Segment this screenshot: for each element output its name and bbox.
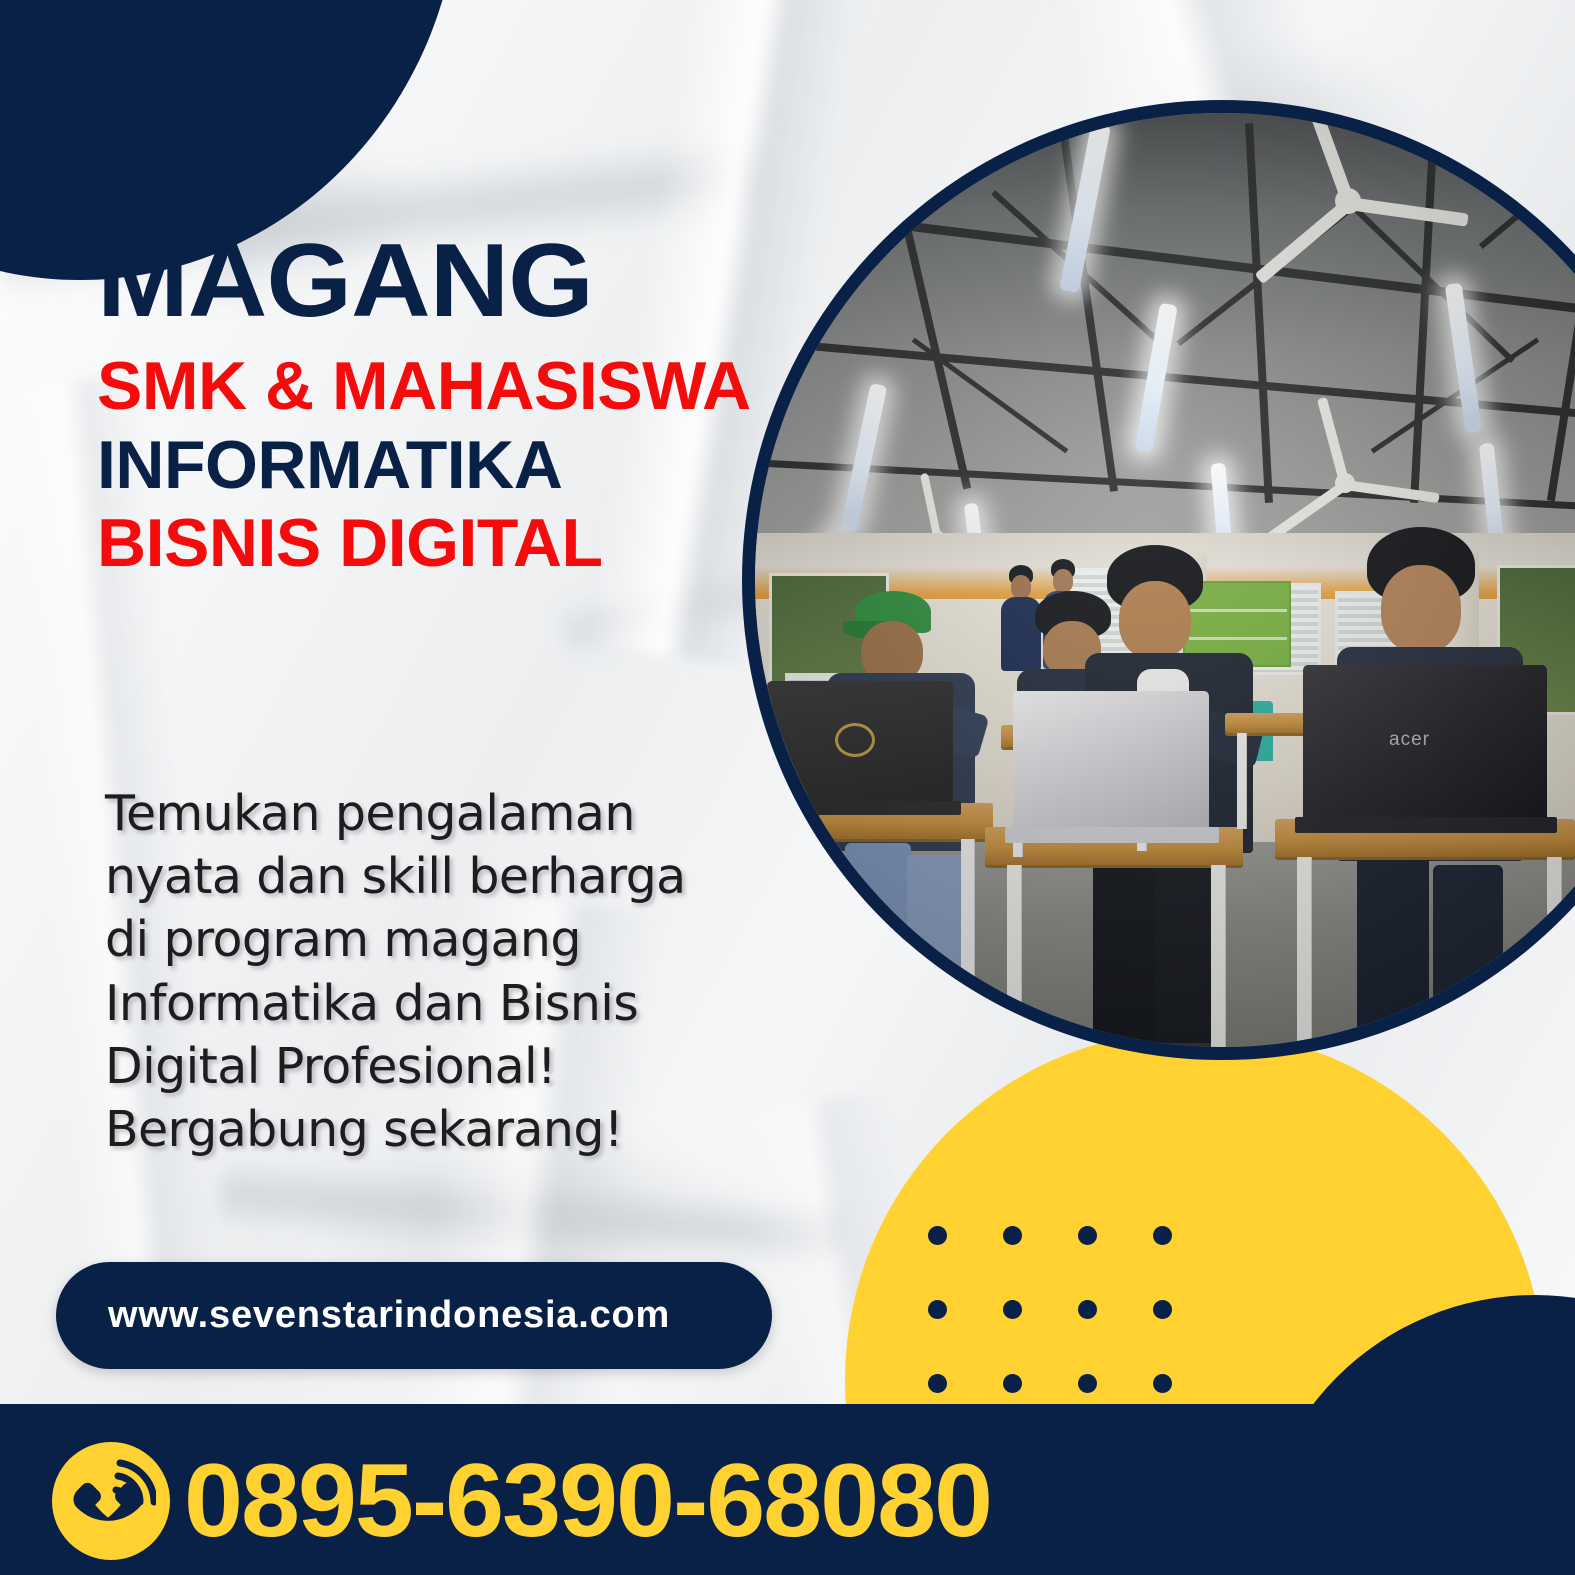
headline-line-magang: MAGANG	[97, 232, 775, 331]
grid-dot	[1153, 1374, 1172, 1393]
photo-acer-logo: acer	[1389, 729, 1463, 749]
grid-dot	[928, 1226, 947, 1245]
website-url-pill[interactable]: www.sevenstarindonesia.com	[56, 1262, 772, 1369]
grid-dot	[1003, 1300, 1022, 1319]
phone-contact-row[interactable]: 0895-6390-68080	[52, 1442, 975, 1560]
grid-dot	[1153, 1300, 1172, 1319]
headline-line-informatika: INFORMATIKA	[97, 430, 737, 501]
body-paragraph: Temukan pengalaman nyata dan skill berha…	[105, 782, 725, 1161]
grid-dot	[928, 1300, 947, 1319]
classroom-photo: acer	[755, 113, 1575, 1047]
headline-block: MAGANG SMK & MAHASISWA INFORMATIKA BISNI…	[97, 232, 737, 579]
website-url-text: www.sevenstarindonesia.com	[108, 1294, 670, 1337]
photo-hp-logo	[835, 723, 875, 757]
phone-number-text: 0895-6390-68080	[184, 1449, 991, 1553]
grid-dot	[1153, 1226, 1172, 1245]
poster-canvas: acer MAGANG SMK & MAHASISWA INFORMATIKA …	[0, 0, 1575, 1575]
grid-dot	[1003, 1374, 1022, 1393]
phone-call-icon[interactable]	[52, 1442, 170, 1560]
grid-dot	[1003, 1226, 1022, 1245]
grid-dot	[1078, 1300, 1097, 1319]
grid-dot	[1078, 1226, 1097, 1245]
headline-line-bisnis-digital: BISNIS DIGITAL	[97, 508, 737, 579]
grid-dot	[1078, 1374, 1097, 1393]
headline-line-smk-mahasiswa: SMK & MAHASISWA	[97, 351, 737, 422]
grid-dot	[928, 1374, 947, 1393]
